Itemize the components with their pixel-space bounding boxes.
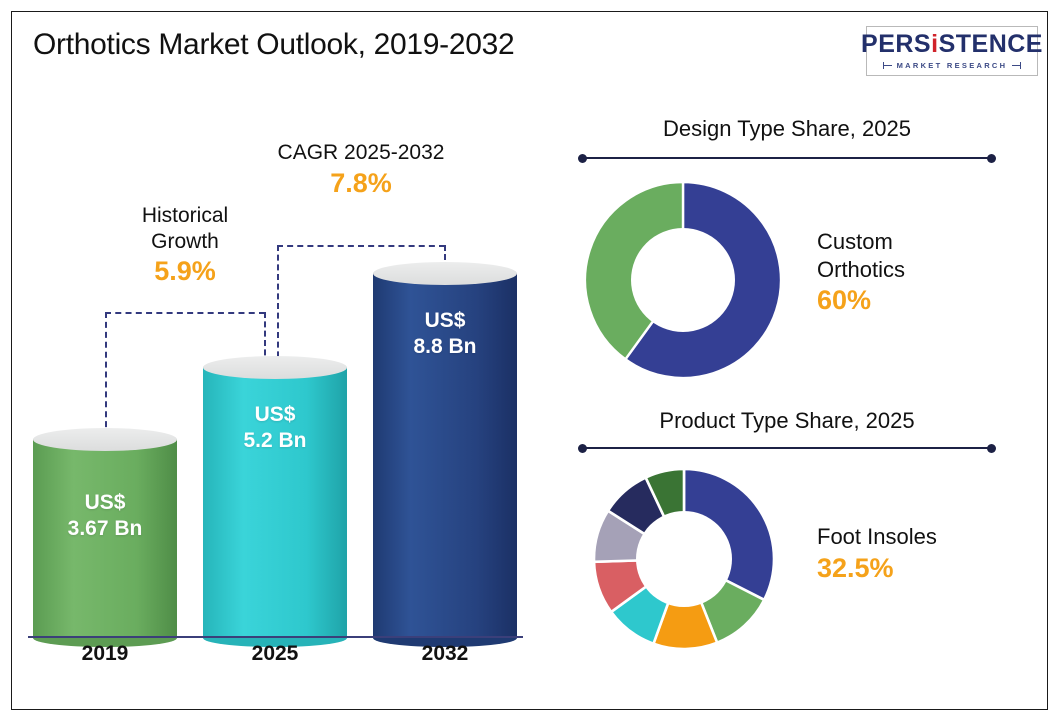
bar-2019-cap (33, 428, 177, 451)
bar-2019-value-label: US$ 3.67 Bn (33, 490, 177, 541)
design-type-divider-line (584, 157, 990, 159)
logo-word-pre: PERS (861, 30, 931, 58)
logo-rule-left-icon (883, 65, 892, 66)
bar-2032-cap (373, 262, 517, 285)
bar-2025: US$ 5.2 Bn (203, 356, 347, 638)
x-axis-tick-2019: 2019 (33, 642, 177, 666)
product-donut-hole (636, 511, 732, 607)
bar-2025-value-label: US$ 5.2 Bn (203, 402, 347, 453)
bar-2025-value-line1: US$ (255, 403, 296, 426)
bar-2025-cap (203, 356, 347, 379)
bar-chart-baseline (28, 636, 523, 638)
design-type-legend: Custom Orthotics 60% (817, 228, 905, 319)
design-legend-value: 60% (817, 283, 905, 318)
bar-2032-value-label: US$ 8.8 Bn (373, 308, 517, 359)
bar-2019: US$ 3.67 Bn (33, 428, 177, 638)
design-type-divider-dot-left-icon (578, 154, 587, 163)
bar-2019-value-line1: US$ (85, 491, 126, 514)
logo-wordmark: PERSiSTENCE (861, 32, 1043, 57)
design-legend-name-line2: Orthotics (817, 256, 905, 284)
infographic-canvas: Orthotics Market Outlook, 2019-2032 PERS… (0, 0, 1056, 720)
bar-2025-value-line2: 5.2 Bn (243, 429, 306, 452)
bar-2032-value-line2: 8.8 Bn (413, 335, 476, 358)
product-type-divider-dot-left-icon (578, 444, 587, 453)
design-type-divider-dot-right-icon (987, 154, 996, 163)
product-type-donut-chart (591, 466, 777, 652)
product-type-divider-dot-right-icon (987, 444, 996, 453)
product-legend-value: 32.5% (817, 551, 937, 586)
product-type-panel-title: Product Type Share, 2025 (557, 408, 1017, 434)
bar-2019-value-line2: 3.67 Bn (68, 517, 143, 540)
page-title: Orthotics Market Outlook, 2019-2032 (33, 28, 514, 62)
brand-logo: PERSiSTENCE MARKET RESEARCH (866, 26, 1038, 76)
design-donut-hole (631, 228, 735, 332)
historical-growth-value: 5.9% (108, 254, 262, 289)
design-type-donut-chart (584, 181, 782, 379)
x-axis-tick-2032: 2032 (373, 642, 517, 666)
historical-growth-label-line1: Historical (108, 203, 262, 229)
logo-word-post: STENCE (939, 30, 1043, 58)
logo-rule-right-icon (1012, 65, 1021, 66)
cagr-annotation: CAGR 2025-2032 7.8% (250, 140, 472, 201)
product-type-divider-line (584, 447, 990, 449)
design-type-panel-title: Design Type Share, 2025 (557, 116, 1017, 142)
cagr-value: 7.8% (250, 166, 472, 201)
product-type-legend: Foot Insoles 32.5% (817, 523, 937, 586)
logo-subtitle: MARKET RESEARCH (897, 61, 1008, 70)
logo-word-accent-i: i (931, 30, 938, 58)
bar-2032-value-line1: US$ (425, 309, 466, 332)
design-legend-name-line1: Custom (817, 228, 905, 256)
cagr-label: CAGR 2025-2032 (250, 140, 472, 166)
logo-subtitle-row: MARKET RESEARCH (883, 61, 1022, 70)
historical-growth-label-line2: Growth (108, 229, 262, 255)
x-axis-tick-2025: 2025 (203, 642, 347, 666)
historical-growth-annotation: Historical Growth 5.9% (108, 203, 262, 289)
product-type-donut-svg (591, 466, 777, 652)
bar-2032: US$ 8.8 Bn (373, 262, 517, 638)
product-legend-name: Foot Insoles (817, 523, 937, 551)
design-type-donut-svg (584, 181, 782, 379)
